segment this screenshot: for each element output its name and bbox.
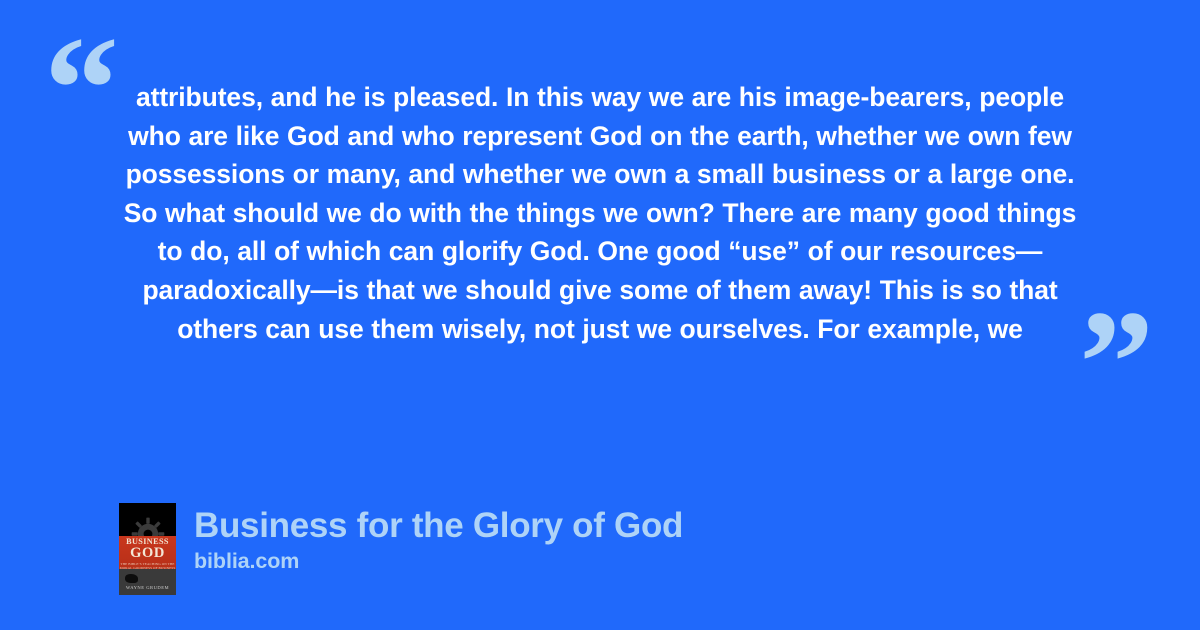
cover-title-line-2: GOD <box>119 545 176 562</box>
opening-quote-mark: “ <box>44 14 119 164</box>
footer: BUSINESS GOD THE BIBLE’S TEACHING ON THE… <box>119 503 683 595</box>
closing-quote-mark: ” <box>1079 288 1154 438</box>
quote-card: “ attributes, and he is pleased. In this… <box>0 0 1200 630</box>
book-title: Business for the Glory of God <box>194 504 683 547</box>
quote-block: attributes, and he is pleased. In this w… <box>112 78 1088 348</box>
site-url[interactable]: biblia.com <box>194 548 683 574</box>
footer-text-group: Business for the Glory of God biblia.com <box>194 503 683 574</box>
quote-text: attributes, and he is pleased. In this w… <box>112 78 1088 348</box>
cover-author: WAYNE GRUDEM <box>119 585 176 590</box>
cover-decoration <box>125 574 138 583</box>
book-cover-thumbnail[interactable]: BUSINESS GOD THE BIBLE’S TEACHING ON THE… <box>119 503 176 595</box>
